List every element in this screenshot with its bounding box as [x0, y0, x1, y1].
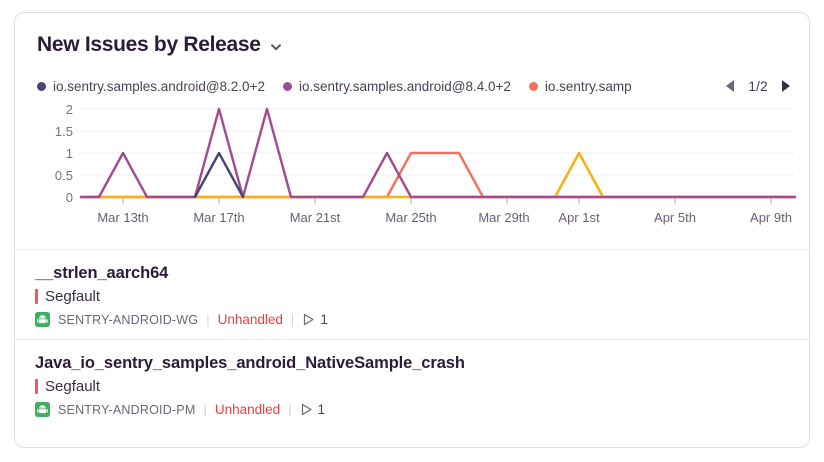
replay-count[interactable]: 1: [302, 312, 328, 327]
x-tick-label: Apr 9th: [750, 210, 792, 225]
meta-divider: |: [206, 312, 209, 327]
pager-count: 1/2: [746, 78, 770, 94]
chart-legend: io.sentry.samples.android@8.2.0+2 io.sen…: [37, 75, 793, 97]
x-tick-label: Mar 25th: [385, 210, 436, 225]
project-slug[interactable]: SENTRY-ANDROID-WG: [58, 313, 198, 327]
legend-dot-icon: [283, 82, 292, 91]
meta-divider: |: [203, 402, 206, 417]
y-tick-label: 1.5: [55, 124, 73, 139]
issue-culprit-row: Segfault: [35, 288, 789, 305]
x-tick-label: Mar 13th: [97, 210, 148, 225]
play-triangle-icon: [300, 403, 313, 416]
y-tick-label: 0.5: [55, 168, 73, 183]
replay-count[interactable]: 1: [300, 402, 326, 417]
issue-list: __strlen_aarch64 Segfault: [15, 249, 809, 429]
issue-meta: SENTRY-ANDROID-PM | Unhandled | 1: [35, 402, 789, 417]
android-icon: [35, 402, 50, 417]
new-issues-by-release-line-chart[interactable]: 2 1.5 1 0.5 0: [23, 101, 803, 241]
x-tick-label: Mar 17th: [193, 210, 244, 225]
legend-label: io.sentry.samples.android@8.2.0+2: [53, 79, 265, 94]
play-triangle-icon: [302, 313, 315, 326]
legend-dot-icon: [529, 82, 538, 91]
unhandled-badge[interactable]: Unhandled: [218, 312, 283, 327]
legend-label: io.sentry.samples.android@8.4.0+2: [299, 79, 511, 94]
x-tick-label: Mar 21st: [290, 210, 341, 225]
chart-y-axis: 2 1.5 1 0.5 0: [55, 102, 73, 205]
list-item[interactable]: __strlen_aarch64 Segfault: [15, 250, 809, 339]
project-slug[interactable]: SENTRY-ANDROID-PM: [58, 403, 195, 417]
legend-pager: 1/2: [711, 78, 793, 94]
page-title: New Issues by Release: [37, 33, 261, 57]
y-tick-label: 1: [66, 146, 73, 161]
triangle-right-icon[interactable]: [779, 78, 793, 94]
issue-culprit: Segfault: [45, 288, 100, 305]
error-level-bar: [35, 379, 38, 394]
y-tick-label: 2: [66, 102, 73, 117]
legend-item-1[interactable]: io.sentry.samples.android@8.4.0+2: [283, 79, 511, 94]
chevron-down-icon[interactable]: [269, 40, 283, 54]
x-tick-label: Apr 5th: [654, 210, 696, 225]
play-count: 1: [320, 312, 328, 327]
legend-label: io.sentry.samp: [545, 79, 632, 94]
x-tick-label: Apr 1st: [558, 210, 600, 225]
widget-card: New Issues by Release io.sentry.samples.…: [14, 12, 810, 448]
y-tick-label: 0: [66, 190, 73, 205]
screenshot-root: New Issues by Release io.sentry.samples.…: [0, 0, 824, 462]
meta-divider: |: [291, 312, 294, 327]
issue-title[interactable]: Java_io_sentry_samples_android_NativeSam…: [35, 354, 789, 373]
play-count: 1: [318, 402, 326, 417]
issue-culprit-row: Segfault: [35, 378, 789, 395]
legend-dot-icon: [37, 82, 46, 91]
x-tick-label: Mar 29th: [478, 210, 529, 225]
legend-item-2[interactable]: io.sentry.samp: [529, 79, 632, 94]
chart-container[interactable]: 2 1.5 1 0.5 0: [23, 101, 803, 241]
list-item[interactable]: Java_io_sentry_samples_android_NativeSam…: [15, 339, 809, 429]
chart-x-ticks: [123, 198, 771, 204]
unhandled-badge[interactable]: Unhandled: [215, 402, 280, 417]
issue-culprit: Segfault: [45, 378, 100, 395]
issue-meta: SENTRY-ANDROID-WG | Unhandled | 1: [35, 312, 789, 327]
legend-item-0[interactable]: io.sentry.samples.android@8.2.0+2: [37, 79, 265, 94]
widget-header: New Issues by Release: [37, 33, 791, 57]
error-level-bar: [35, 289, 38, 304]
meta-divider: |: [288, 402, 291, 417]
chart-x-axis: Mar 13th Mar 17th Mar 21st Mar 25th Mar …: [97, 210, 792, 225]
issue-title[interactable]: __strlen_aarch64: [35, 264, 789, 283]
title-row: New Issues by Release: [37, 33, 791, 57]
android-icon: [35, 312, 50, 327]
triangle-left-icon[interactable]: [723, 78, 737, 94]
legend-items: io.sentry.samples.android@8.2.0+2 io.sen…: [37, 79, 711, 94]
